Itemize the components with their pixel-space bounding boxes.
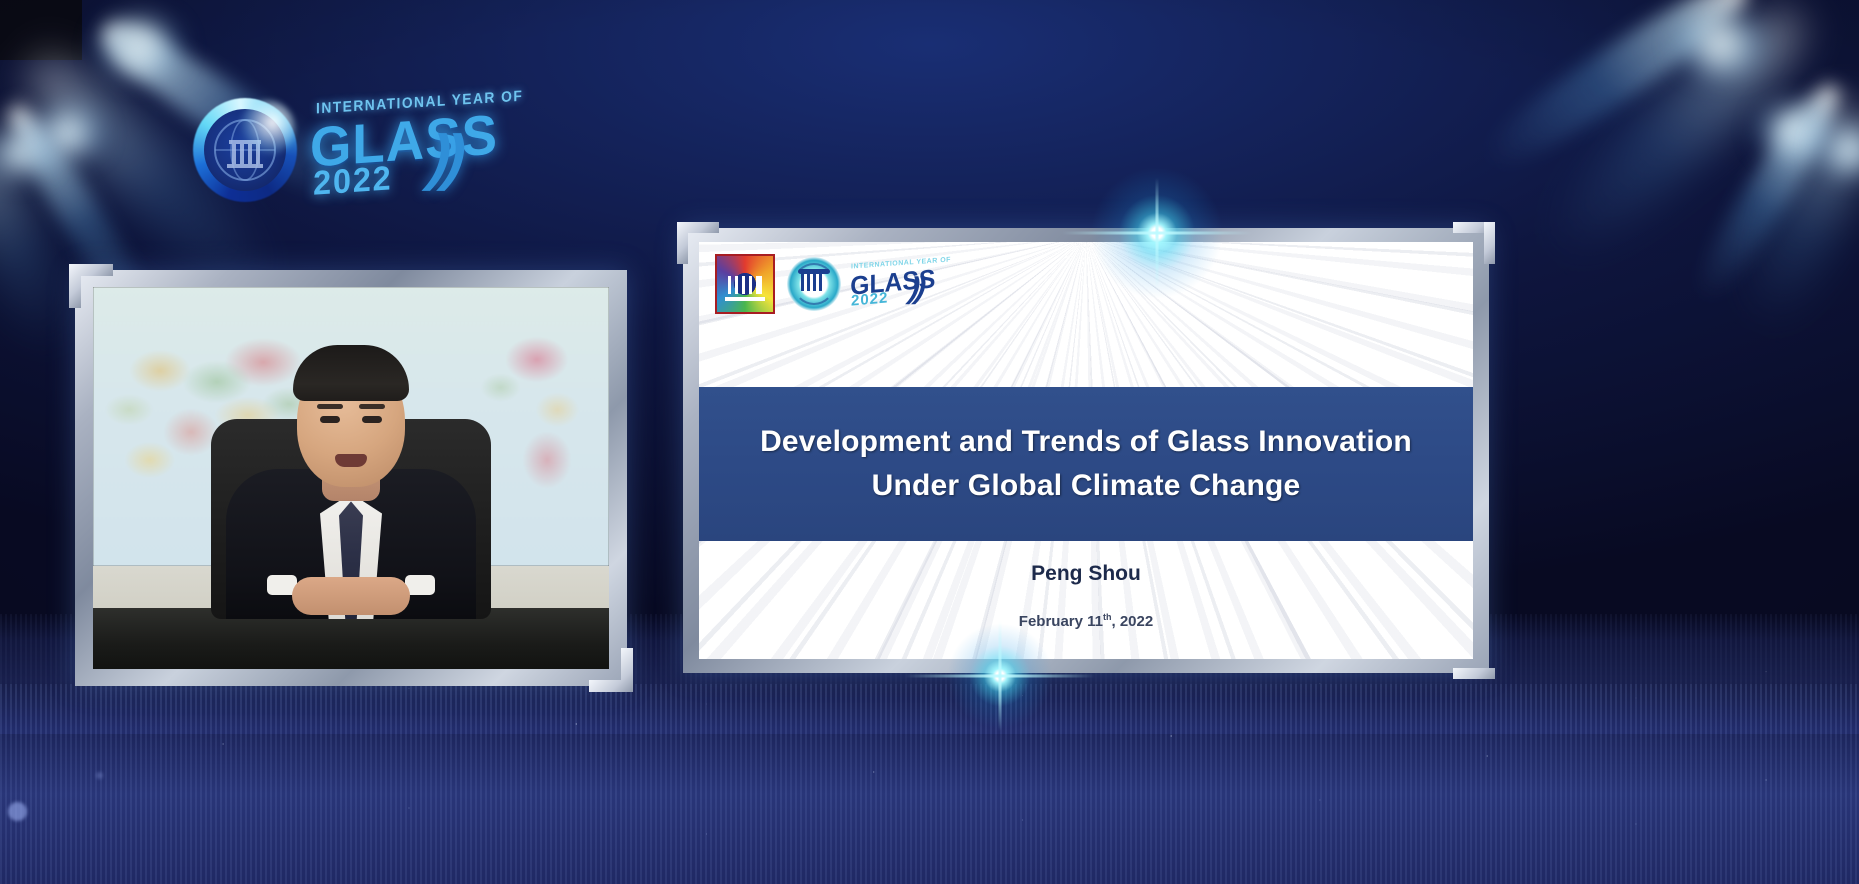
slide-presenter-name: Peng Shou bbox=[699, 562, 1473, 586]
slide-frame-corner-right bbox=[1484, 222, 1495, 264]
slide-iyog-logo: INTERNATIONAL YEAR OF GLASS )) 2022 bbox=[787, 257, 958, 311]
starfield-band bbox=[0, 684, 1859, 884]
speaker-figure bbox=[226, 389, 476, 619]
iyog-event-logo: INTERNATIONAL YEAR OF GLASS )) 2022 bbox=[193, 88, 493, 212]
slide-iyog-year: 2022 bbox=[851, 289, 888, 309]
presentation-slide-panel[interactable]: INTERNATIONAL YEAR OF GLASS )) 2022 Deve… bbox=[683, 228, 1489, 673]
slide-title-band: Development and Trends of Glass Innovati… bbox=[699, 387, 1473, 541]
speaker-video-panel[interactable] bbox=[75, 270, 627, 686]
video-feed bbox=[93, 287, 609, 669]
bokeh-dot bbox=[96, 772, 103, 779]
iyog-globe-ring-icon bbox=[193, 98, 297, 202]
iyog-logo-year: 2022 bbox=[313, 159, 392, 204]
slide-date-ordinal: th bbox=[1103, 612, 1112, 622]
slide-title-line-1: Development and Trends of Glass Innovati… bbox=[760, 422, 1412, 463]
slide-date-monthday: February 11 bbox=[1019, 613, 1103, 630]
slide-frame-corner-bottom-right bbox=[1453, 668, 1495, 679]
unesco-logo-icon bbox=[715, 254, 775, 314]
broadcast-stage: INTERNATIONAL YEAR OF GLASS )) 2022 bbox=[0, 0, 1859, 884]
iyog-globe-icon bbox=[787, 257, 841, 311]
slide-frame-corner-left bbox=[677, 222, 688, 264]
video-frame-corner-left bbox=[69, 264, 81, 308]
slide-content: INTERNATIONAL YEAR OF GLASS )) 2022 Deve… bbox=[699, 242, 1473, 659]
slide-header-logos: INTERNATIONAL YEAR OF GLASS )) 2022 bbox=[715, 254, 958, 314]
slide-date-year: , 2022 bbox=[1112, 613, 1154, 630]
slide-title-line-2: Under Global Climate Change bbox=[872, 466, 1301, 507]
slide-date: February 11th, 2022 bbox=[699, 612, 1473, 630]
video-frame-corner-right bbox=[621, 648, 633, 692]
bokeh-dot bbox=[8, 802, 27, 821]
